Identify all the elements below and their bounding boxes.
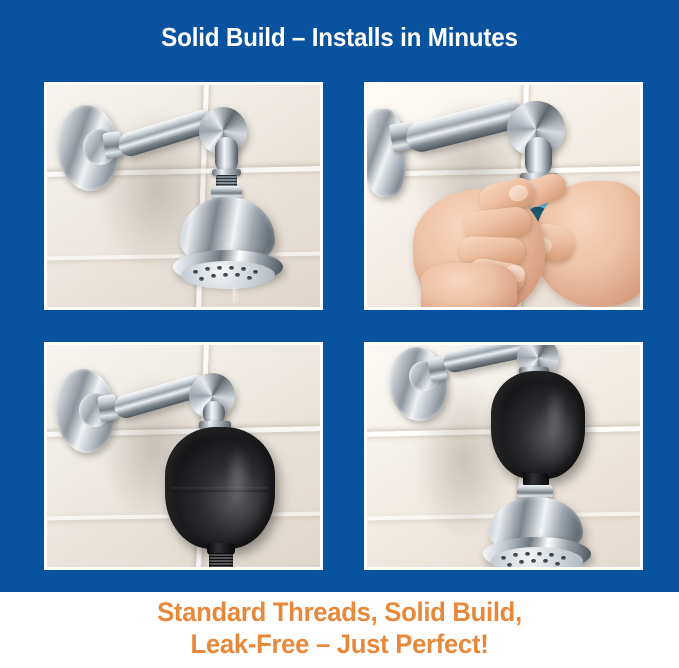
product-infographic: Solid Build – Installs in Minutes bbox=[0, 0, 679, 668]
nozzle bbox=[543, 559, 548, 563]
nozzle bbox=[513, 553, 518, 557]
page-title: Solid Build – Installs in Minutes bbox=[24, 22, 655, 53]
nozzle bbox=[199, 277, 204, 281]
nozzle bbox=[217, 266, 222, 270]
nozzle bbox=[223, 273, 228, 277]
nozzle bbox=[241, 267, 246, 271]
nozzle bbox=[519, 560, 524, 564]
arm-downspout bbox=[525, 137, 552, 177]
nozzle bbox=[555, 562, 560, 566]
showerhead-face bbox=[181, 261, 275, 289]
nozzle bbox=[507, 563, 512, 567]
nozzle bbox=[525, 552, 530, 556]
caption-line-1: Standard Threads, Solid Build, bbox=[17, 596, 662, 628]
photo-grid bbox=[44, 82, 643, 570]
bottom-caption: Standard Threads, Solid Build, Leak-Free… bbox=[17, 596, 662, 660]
caption-line-2: Leak-Free – Just Perfect! bbox=[17, 628, 662, 660]
nozzle bbox=[205, 267, 210, 271]
photo-applying-thread-tape bbox=[364, 82, 643, 310]
nozzle bbox=[193, 270, 198, 274]
nozzle bbox=[247, 276, 252, 280]
arm-downspout bbox=[215, 137, 238, 173]
nozzle bbox=[229, 266, 234, 270]
nozzle bbox=[561, 556, 566, 560]
nozzle bbox=[537, 552, 542, 556]
nozzle bbox=[549, 553, 554, 557]
black-filter-cartridge bbox=[491, 371, 585, 479]
water-drip bbox=[233, 287, 238, 303]
showerhead-face bbox=[491, 547, 583, 570]
nozzle bbox=[253, 270, 258, 274]
outlet-threads bbox=[209, 553, 233, 569]
photo-filter-installed bbox=[44, 342, 323, 570]
nozzle bbox=[531, 559, 536, 563]
photo-shower-arm-original bbox=[44, 82, 323, 310]
cartridge-highlight bbox=[543, 387, 567, 441]
nozzle bbox=[235, 273, 240, 277]
photo-complete-assembly-running bbox=[364, 342, 643, 570]
cartridge-seam bbox=[171, 487, 269, 492]
left-wrist bbox=[421, 263, 517, 310]
cartridge-highlight bbox=[225, 445, 251, 505]
nozzle bbox=[211, 274, 216, 278]
nozzle bbox=[501, 556, 506, 560]
